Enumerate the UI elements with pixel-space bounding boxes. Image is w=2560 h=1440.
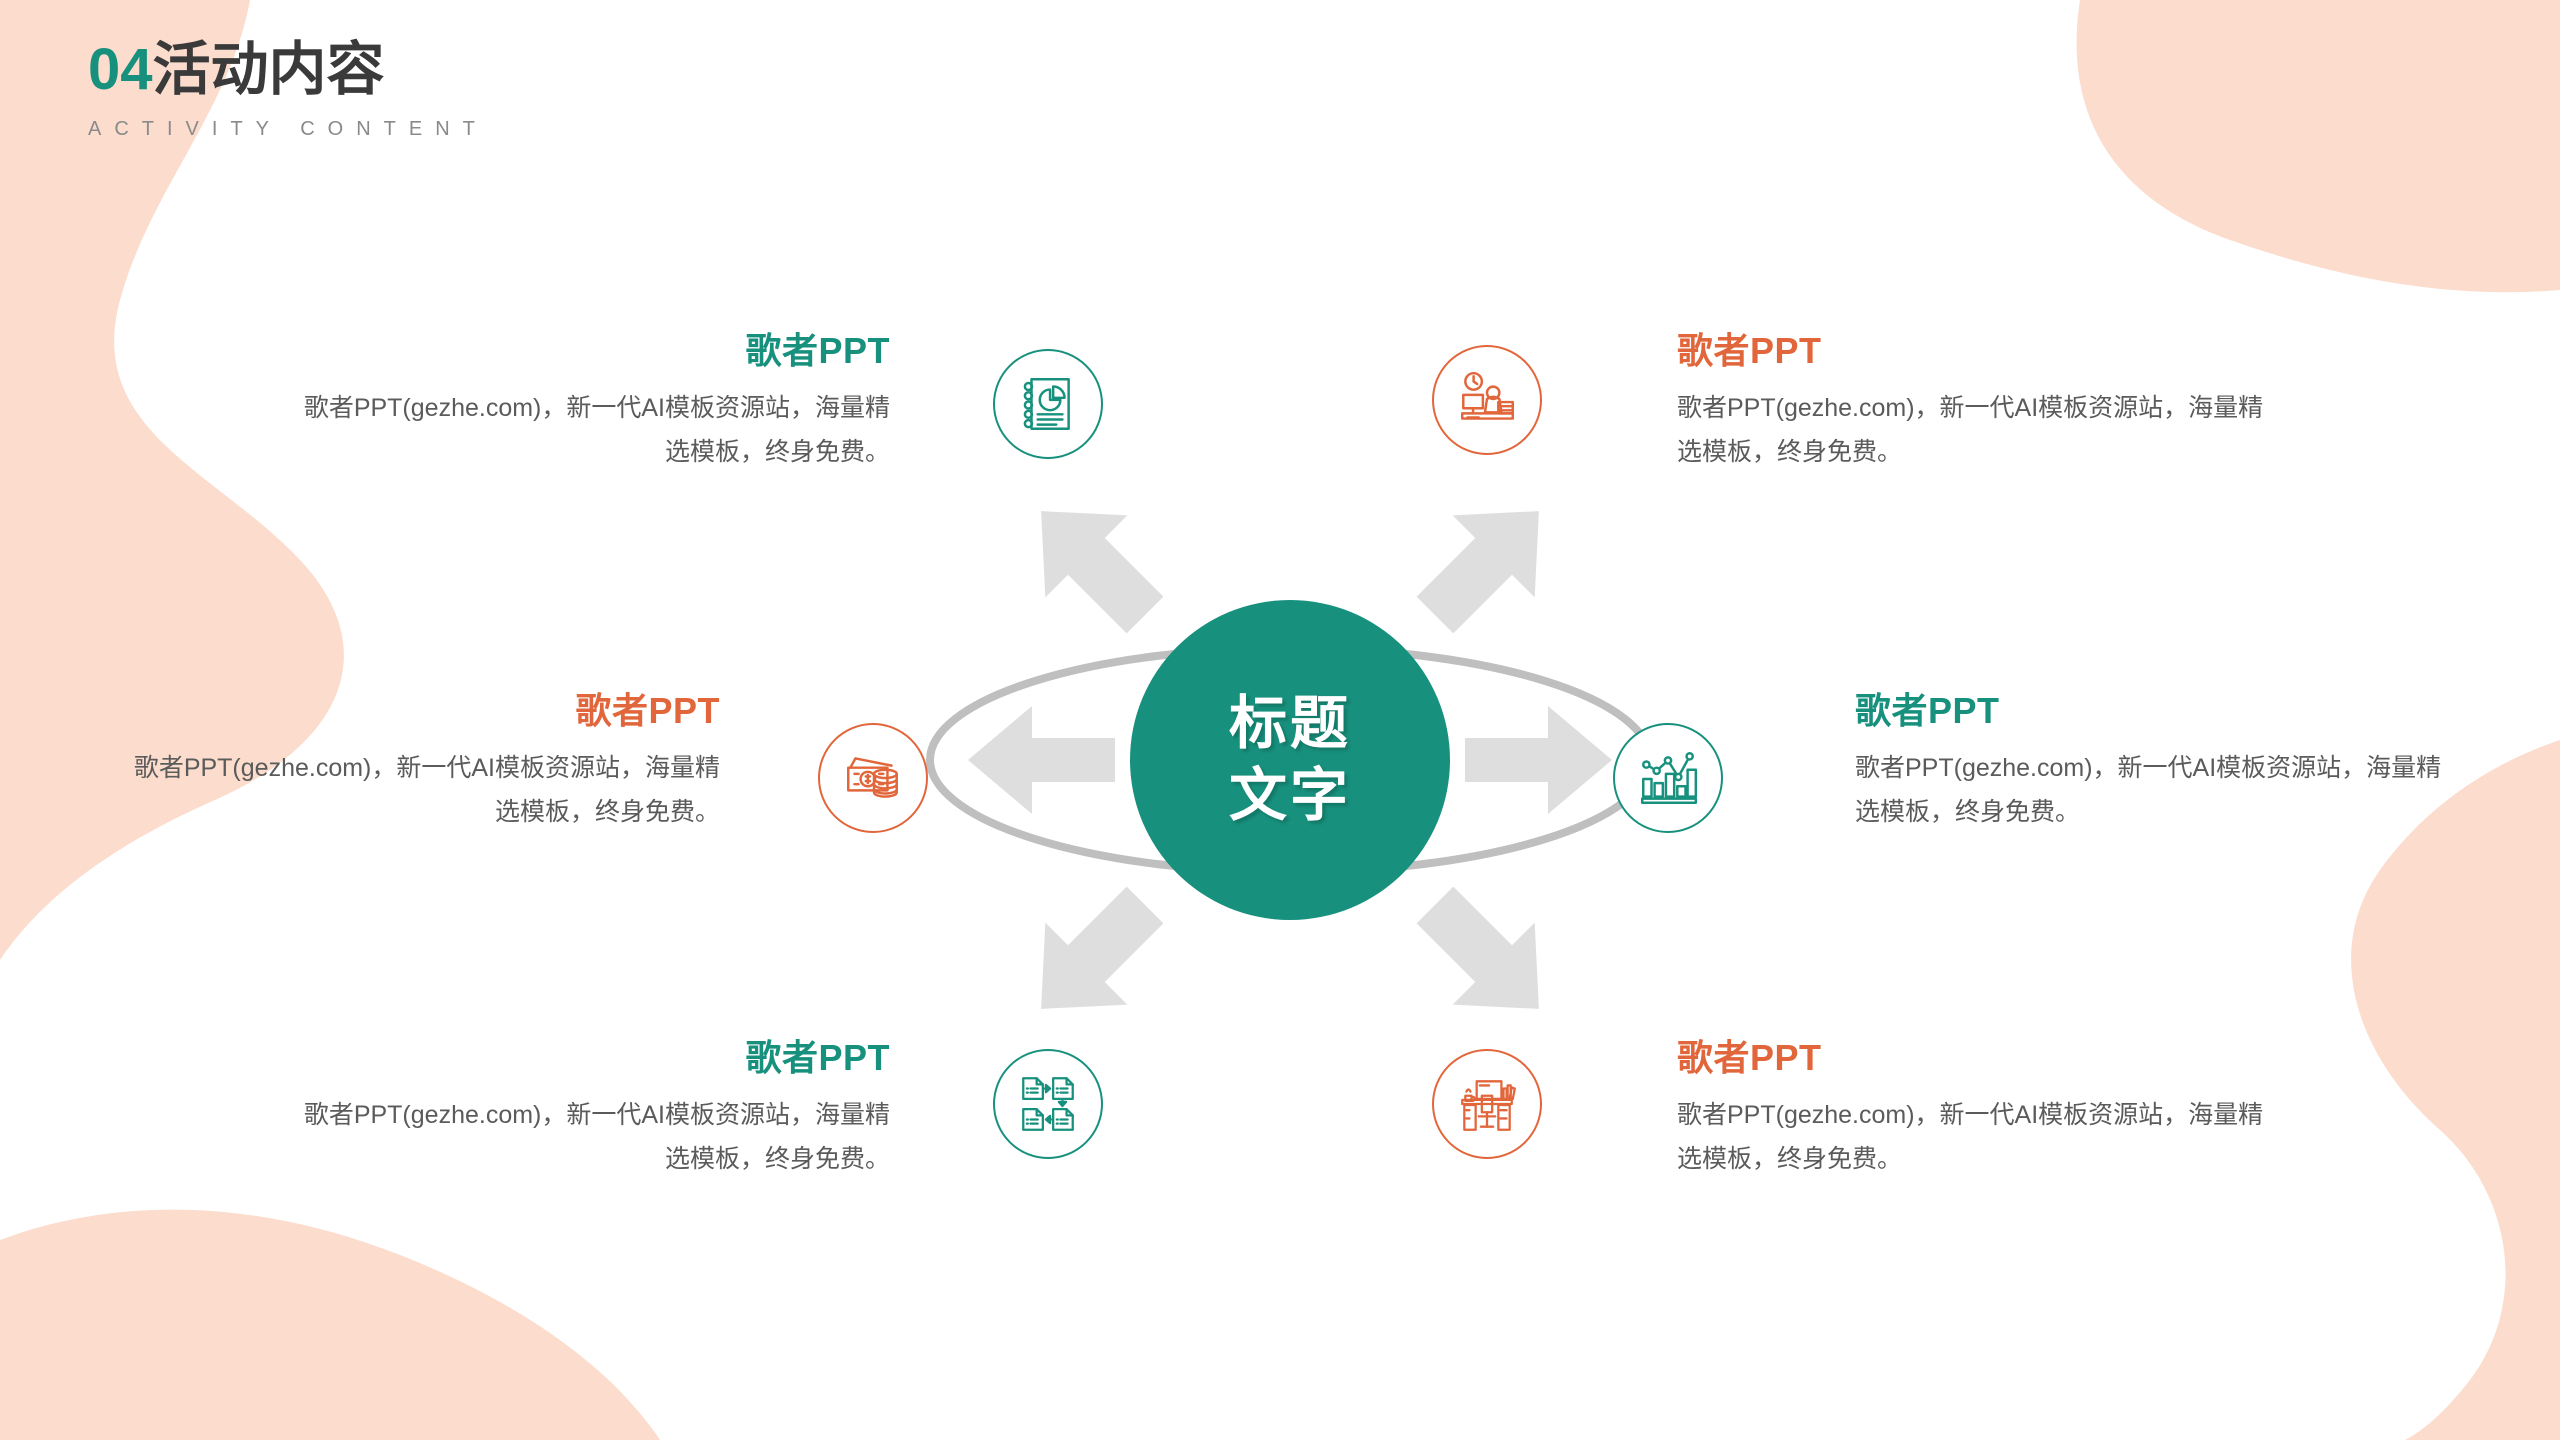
arrow-bottom-left (1000, 470, 1186, 656)
page-title-text: 活动内容 (153, 37, 385, 102)
info-heading: 歌者PPT (120, 690, 720, 731)
info-block-middle-left: 歌者PPT 歌者PPT(gezhe.com)，新一代AI模板资源站，海量精选模板… (120, 690, 720, 835)
page-title: 04活动内容 (88, 38, 488, 102)
info-block-bottom-right: 歌者PPT 歌者PPT(gezhe.com)，新一代AI模板资源站，海量精选模板… (1677, 1037, 2277, 1182)
info-block-middle-right: 歌者PPT 歌者PPT(gezhe.com)，新一代AI模板资源站，海量精选模板… (1855, 690, 2455, 835)
info-body: 歌者PPT(gezhe.com)，新一代AI模板资源站，海量精选模板，终身免费。 (1855, 747, 2455, 835)
info-heading: 歌者PPT (290, 330, 890, 371)
worker-desk-clock-icon (1454, 367, 1520, 433)
info-heading: 歌者PPT (1677, 1037, 2277, 1078)
icon-badge-bottom-right[interactable] (1432, 1049, 1542, 1159)
arrow-middle-right (1465, 706, 1612, 814)
slide-canvas: 04活动内容 ACTIVITY CONTENT (0, 0, 2560, 1440)
icon-badge-bottom-left[interactable] (993, 1049, 1103, 1159)
icon-badge-top-left[interactable] (993, 349, 1103, 459)
info-body: 歌者PPT(gezhe.com)，新一代AI模板资源站，海量精选模板，终身免费。 (120, 747, 720, 835)
slide-header: 04活动内容 ACTIVITY CONTENT (88, 38, 488, 141)
page-title-number: 04 (88, 37, 153, 102)
money-cash-coins-icon (840, 745, 906, 811)
arrow-top-left (1000, 864, 1186, 1050)
arrow-top-right (1394, 470, 1580, 656)
hub-title-line2: 文字 (1229, 760, 1351, 833)
office-workspace-desk-icon (1454, 1071, 1520, 1137)
info-body: 歌者PPT(gezhe.com)，新一代AI模板资源站，海量精选模板，终身免费。 (290, 1094, 890, 1182)
page-subtitle: ACTIVITY CONTENT (88, 118, 488, 141)
arrow-middle-left (968, 706, 1115, 814)
arrow-bottom-right (1394, 864, 1580, 1050)
hub-title-line1: 标题 (1229, 688, 1351, 761)
info-body: 歌者PPT(gezhe.com)，新一代AI模板资源站，海量精选模板，终身免费。 (290, 387, 890, 475)
info-block-top-right: 歌者PPT 歌者PPT(gezhe.com)，新一代AI模板资源站，海量精选模板… (1677, 330, 2277, 475)
center-hub[interactable]: 标题 文字 (1130, 600, 1450, 920)
document-workflow-cycle-icon (1015, 1071, 1081, 1137)
info-block-top-left: 歌者PPT 歌者PPT(gezhe.com)，新一代AI模板资源站，海量精选模板… (290, 330, 890, 475)
info-body: 歌者PPT(gezhe.com)，新一代AI模板资源站，海量精选模板，终身免费。 (1677, 1094, 2277, 1182)
info-heading: 歌者PPT (290, 1037, 890, 1078)
report-pie-chart-notebook-icon (1015, 371, 1081, 437)
icon-badge-middle-right[interactable] (1613, 723, 1723, 833)
icon-badge-middle-left[interactable] (818, 723, 928, 833)
icon-badge-top-right[interactable] (1432, 345, 1542, 455)
info-heading: 歌者PPT (1855, 690, 2455, 731)
info-body: 歌者PPT(gezhe.com)，新一代AI模板资源站，海量精选模板，终身免费。 (1677, 387, 2277, 475)
info-heading: 歌者PPT (1677, 330, 2277, 371)
bar-line-chart-icon (1635, 745, 1701, 811)
info-block-bottom-left: 歌者PPT 歌者PPT(gezhe.com)，新一代AI模板资源站，海量精选模板… (290, 1037, 890, 1182)
